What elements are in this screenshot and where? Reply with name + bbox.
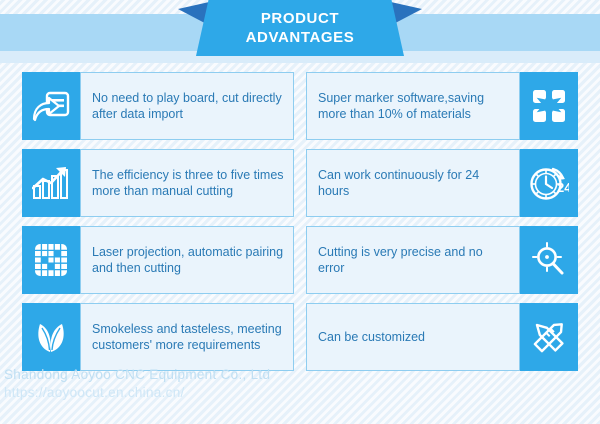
advantage-text: The efficiency is three to five times mo… — [92, 167, 285, 200]
precision-target-icon — [520, 226, 578, 294]
advantage-text: Laser projection, automatic pairing and … — [92, 244, 285, 277]
grid-pattern-icon — [22, 226, 80, 294]
advantage-text: Cutting is very precise and no error — [318, 244, 511, 277]
material-saving-icon — [520, 72, 578, 140]
pencil-ruler-icon — [520, 303, 578, 371]
leaf-eco-icon — [22, 303, 80, 371]
card-row: No need to play board, cut directly afte… — [22, 72, 578, 140]
advantage-card-efficiency-three-to-five-times[interactable]: The efficiency is three to five times mo… — [22, 149, 294, 217]
advantage-card-work-24-hours[interactable]: 24 Can work continuously for 24 hours — [306, 149, 578, 217]
card-row: Laser projection, automatic pairing and … — [22, 226, 578, 294]
advantage-card-smokeless-tasteless[interactable]: Smokeless and tasteless, meeting custome… — [22, 303, 294, 371]
infographic-page: PRODUCT ADVANTAGES No need to play board… — [0, 0, 600, 424]
card-text-container: Cutting is very precise and no error — [306, 226, 520, 294]
card-text-container: Smokeless and tasteless, meeting custome… — [80, 303, 294, 371]
card-text-container: Can be customized — [306, 303, 520, 371]
clock-24-icon: 24 — [520, 149, 578, 217]
advantage-card-laser-projection-pairing[interactable]: Laser projection, automatic pairing and … — [22, 226, 294, 294]
page-title: PRODUCT ADVANTAGES — [196, 0, 404, 56]
card-text-container: The efficiency is three to five times mo… — [80, 149, 294, 217]
svg-text:24: 24 — [557, 180, 569, 195]
advantage-card-super-marker-software[interactable]: Super marker software,saving more than 1… — [306, 72, 578, 140]
card-row: The efficiency is three to five times mo… — [22, 149, 578, 217]
header-banner: PRODUCT ADVANTAGES — [0, 0, 600, 70]
advantage-card-grid: No need to play board, cut directly afte… — [22, 72, 578, 380]
advantage-card-can-be-customized[interactable]: Can be customized — [306, 303, 578, 371]
page-title-line2: ADVANTAGES — [246, 28, 355, 47]
card-text-container: Laser projection, automatic pairing and … — [80, 226, 294, 294]
card-text-container: Super marker software,saving more than 1… — [306, 72, 520, 140]
advantage-text: Super marker software,saving more than 1… — [318, 90, 511, 123]
data-import-arrow-icon — [22, 72, 80, 140]
card-text-container: No need to play board, cut directly afte… — [80, 72, 294, 140]
growth-chart-icon — [22, 149, 80, 217]
card-text-container: Can work continuously for 24 hours — [306, 149, 520, 217]
advantage-card-no-need-to-play-board[interactable]: No need to play board, cut directly afte… — [22, 72, 294, 140]
advantage-text: Can work continuously for 24 hours — [318, 167, 511, 200]
watermark-url: https://aoyoocut.en.china.cn/ — [4, 384, 424, 402]
card-row: Smokeless and tasteless, meeting custome… — [22, 303, 578, 371]
advantage-card-cutting-very-precise[interactable]: Cutting is very precise and no error — [306, 226, 578, 294]
advantage-text: No need to play board, cut directly afte… — [92, 90, 285, 123]
page-title-line1: PRODUCT — [261, 9, 339, 28]
advantage-text: Smokeless and tasteless, meeting custome… — [92, 321, 285, 354]
advantage-text: Can be customized — [318, 329, 425, 346]
